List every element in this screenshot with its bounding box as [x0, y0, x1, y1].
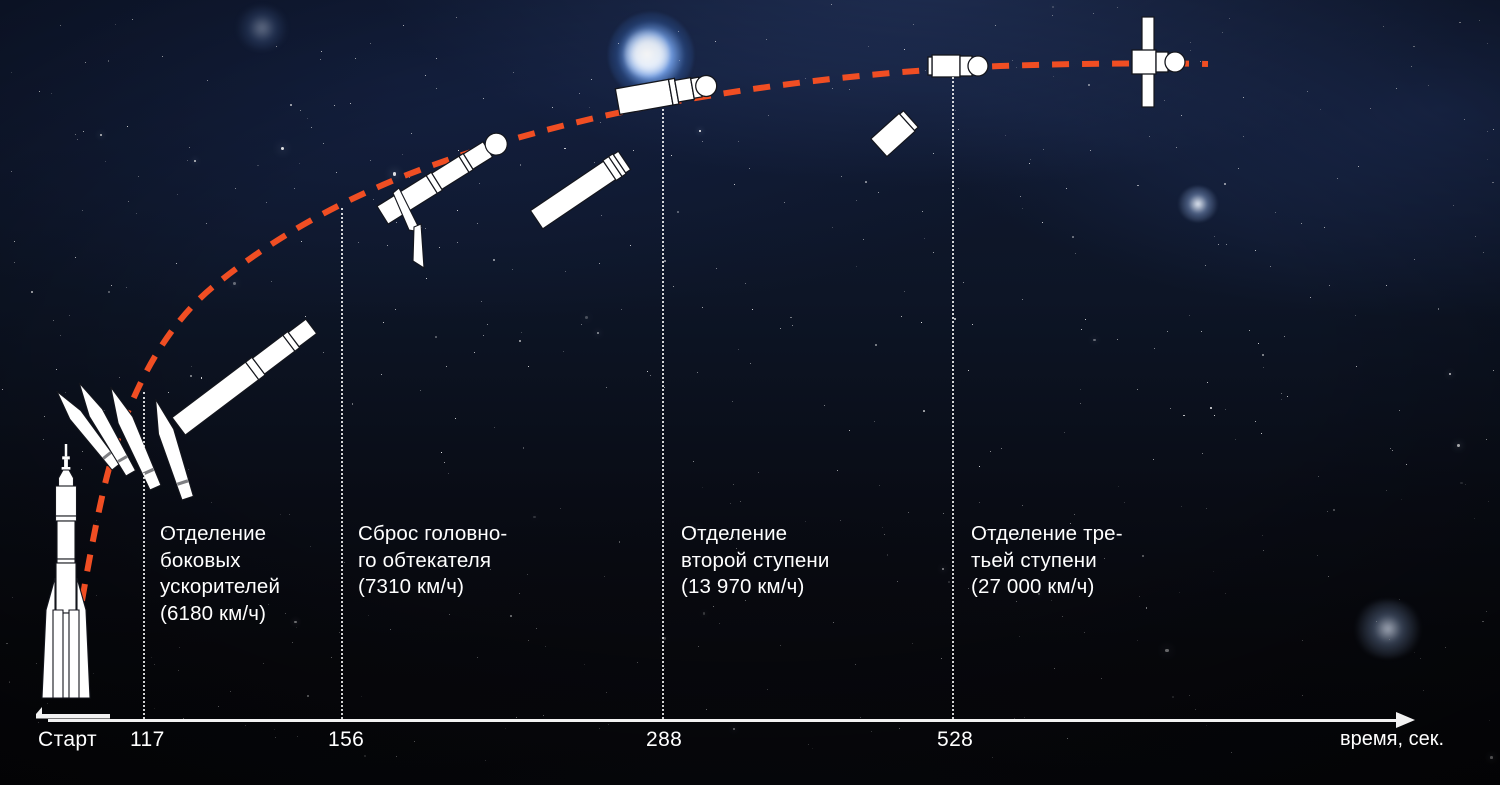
event-title: Сброс головно- го обтекателя [358, 521, 507, 574]
event-title: Отделение тре- тьей ступени [971, 521, 1123, 574]
guide-line [143, 392, 145, 719]
axis-tick-label: Старт [38, 728, 97, 752]
axis-tick-label: 117 [130, 728, 165, 752]
event-speed: (7310 км/ч) [358, 574, 507, 601]
guide-line [662, 104, 664, 719]
guide-line [341, 208, 343, 719]
event-title: Отделение второй ступени [681, 521, 829, 574]
axis-caption: время, сек. [1340, 728, 1444, 751]
event-caption-second-stage-separation: Отделение второй ступени(13 970 км/ч) [681, 521, 829, 601]
event-title: Отделение боковых ускорителей [160, 521, 280, 601]
axis-tick-label: 288 [646, 728, 682, 752]
event-speed: (27 000 км/ч) [971, 574, 1123, 601]
event-caption-booster-separation: Отделение боковых ускорителей(6180 км/ч) [160, 521, 280, 627]
event-caption-fairing-jettison: Сброс головно- го обтекателя(7310 км/ч) [358, 521, 507, 601]
stack-at-fairing-jettison [377, 129, 512, 224]
time-axis-arrow-icon [1396, 712, 1415, 728]
rocket-on-pad [36, 444, 110, 719]
infographic-canvas: Старт117156288528 время, сек. Отделение … [0, 0, 1500, 785]
spent-third-stage [871, 110, 919, 157]
launch-sequence-artwork [0, 0, 1500, 785]
axis-tick-label: 156 [328, 728, 364, 752]
guide-line [952, 66, 954, 719]
axis-tick-label: 528 [937, 728, 973, 752]
spent-second-stage [530, 150, 631, 229]
event-speed: (6180 км/ч) [160, 601, 280, 628]
upper-stack-at-second-stage-sep [615, 71, 718, 114]
spacecraft-in-orbit [1132, 17, 1185, 107]
event-speed: (13 970 км/ч) [681, 574, 829, 601]
event-caption-third-stage-separation: Отделение тре- тьей ступени(27 000 км/ч) [971, 521, 1123, 601]
third-stage-stack [928, 55, 988, 77]
core-stage-ascent [172, 318, 318, 435]
time-axis-line [48, 719, 1403, 722]
